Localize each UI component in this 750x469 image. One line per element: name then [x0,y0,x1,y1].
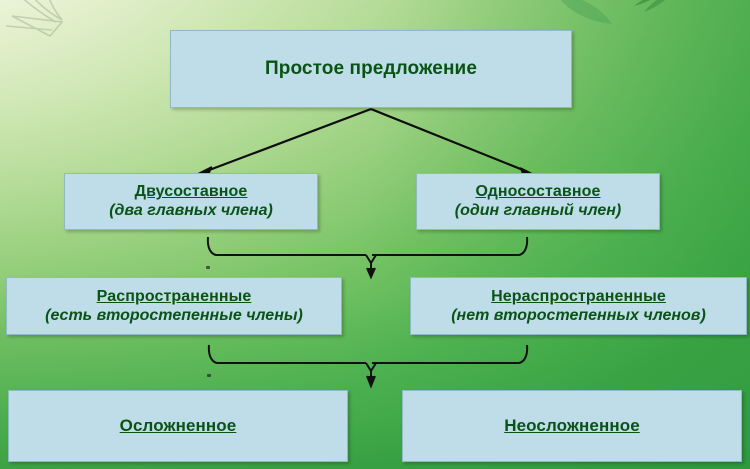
node-subtitle: (два главных члена) [109,202,273,220]
node-title: Односоставное [476,183,601,201]
node-title: Двусоставное [135,183,248,201]
node-simple-sentence[interactable]: Простое предложение [170,30,572,108]
node-title: Распространенные [97,288,252,306]
node-title: Осложненное [120,416,237,436]
leaf-top-left-icon [4,0,124,62]
node-subtitle: (один главный член) [455,202,621,220]
brace-artifact-dot-lower [207,374,211,377]
node-two-part[interactable]: Двусоставное (два главных члена) [64,173,318,230]
node-subtitle: (есть второстепенные члены) [45,307,303,325]
node-title: Простое предложение [265,58,477,80]
diagram-canvas: Простое предложение Двусоставное (два гл… [0,0,750,469]
node-extended[interactable]: Распространенные (есть второстепенные чл… [6,277,342,335]
node-subtitle: (нет второстепенных членов) [451,307,706,325]
node-complicated[interactable]: Осложненное [8,390,348,462]
node-one-part[interactable]: Односоставное (один главный член) [416,173,660,230]
node-title: Неосложненное [504,416,640,436]
node-title: Нераспространенные [491,288,666,306]
node-non-extended[interactable]: Нераспространенные (нет второстепенных ч… [410,277,747,335]
brace-artifact-dot-upper [206,266,210,269]
node-non-complicated[interactable]: Неосложненное [402,390,742,462]
leaf-top-right-secondary-icon [620,0,680,22]
